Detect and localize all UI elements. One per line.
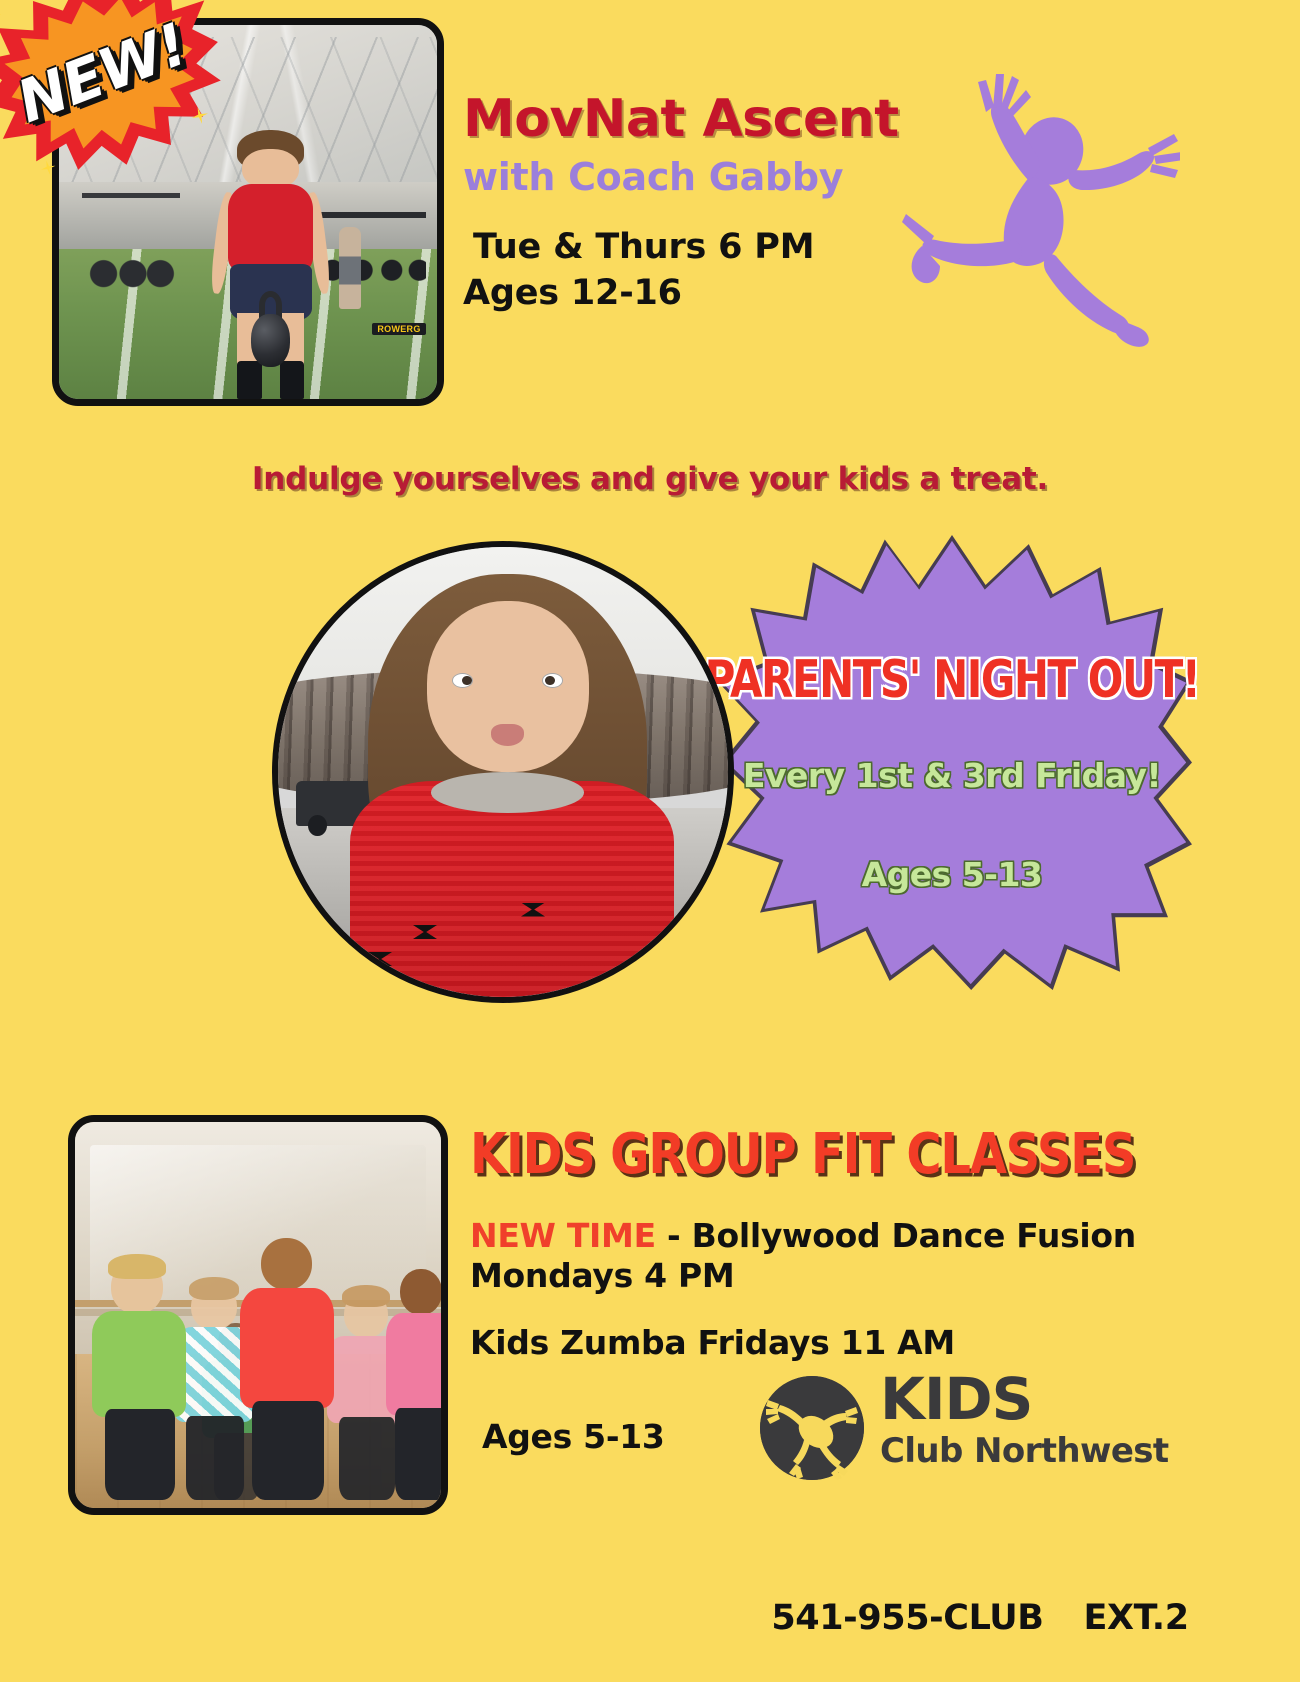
rowerg-label: ROWERG [372,323,425,335]
boy-sock-left [237,361,261,399]
parents-night-out-ages: Ages 5-13 [862,855,1043,894]
class-one-row: NEW TIME - Bollywood Dance Fusion [470,1216,1190,1256]
boy-head [242,149,299,189]
girl-red-sweater [350,781,674,1003]
girl-face [427,601,589,772]
cartwheel-figure-icon [760,1376,864,1480]
background-person [339,227,362,309]
logo-name-primary: KIDS [880,1372,1169,1428]
phone-number: 541-955-CLUB [771,1598,1043,1638]
phone-extension: EXT.2 [1084,1598,1189,1638]
boy-sock-right [280,361,304,399]
kids-group-fit-title: KIDS GROUP FIT CLASSES [470,1122,1190,1187]
kettlebell-icon [249,291,293,366]
class-one-time: Mondays 4 PM [470,1256,1190,1296]
leaping-person-icon [860,48,1180,348]
parents-night-out-when: Every 1st & 3rd Friday! [743,756,1161,795]
new-time-label: NEW TIME [470,1216,656,1255]
class-two: Kids Zumba Fridays 11 AM [470,1323,1190,1363]
burst-content: PARENTS' NIGHT OUT! Every 1st & 3rd Frid… [712,535,1192,990]
girl-eye-right [542,673,563,688]
tagline: Indulge yourselves and give your kids a … [0,461,1300,497]
girl-collar [431,772,584,813]
parents-night-out-title: PARENTS' NIGHT OUT! [705,650,1200,710]
dancing-kid-pink-tank [382,1269,448,1501]
sparkle-icon [39,158,57,176]
contact-row: 541-955-CLUB EXT.2 [760,1598,1200,1638]
parents-night-out-photo [272,541,734,1003]
dancing-kid-green-shirt [90,1261,189,1500]
girl-tongue [491,724,523,746]
logo-wordmark: KIDS Club Northwest [880,1370,1169,1471]
parents-night-out-burst: PARENTS' NIGHT OUT! Every 1st & 3rd Frid… [712,535,1192,990]
class-one-name: - Bollywood Dance Fusion [656,1216,1136,1255]
girl-eye-left [452,673,473,688]
weight-rack-left [82,193,180,305]
boy-red-tank-top [228,184,313,273]
sparkle-icon [0,6,3,26]
kettlebell-body [251,314,289,367]
flyer-canvas: ROWERG NEW [0,0,1300,1682]
kids-club-northwest-logo: KIDS Club Northwest [760,1370,1190,1480]
dance-studio-illustration [75,1122,441,1508]
boy-athlete-figure [206,130,335,399]
dancing-kid-red-tank [236,1238,338,1500]
logo-name-secondary: Club Northwest [880,1431,1169,1471]
kids-group-fit-photo [68,1115,448,1515]
